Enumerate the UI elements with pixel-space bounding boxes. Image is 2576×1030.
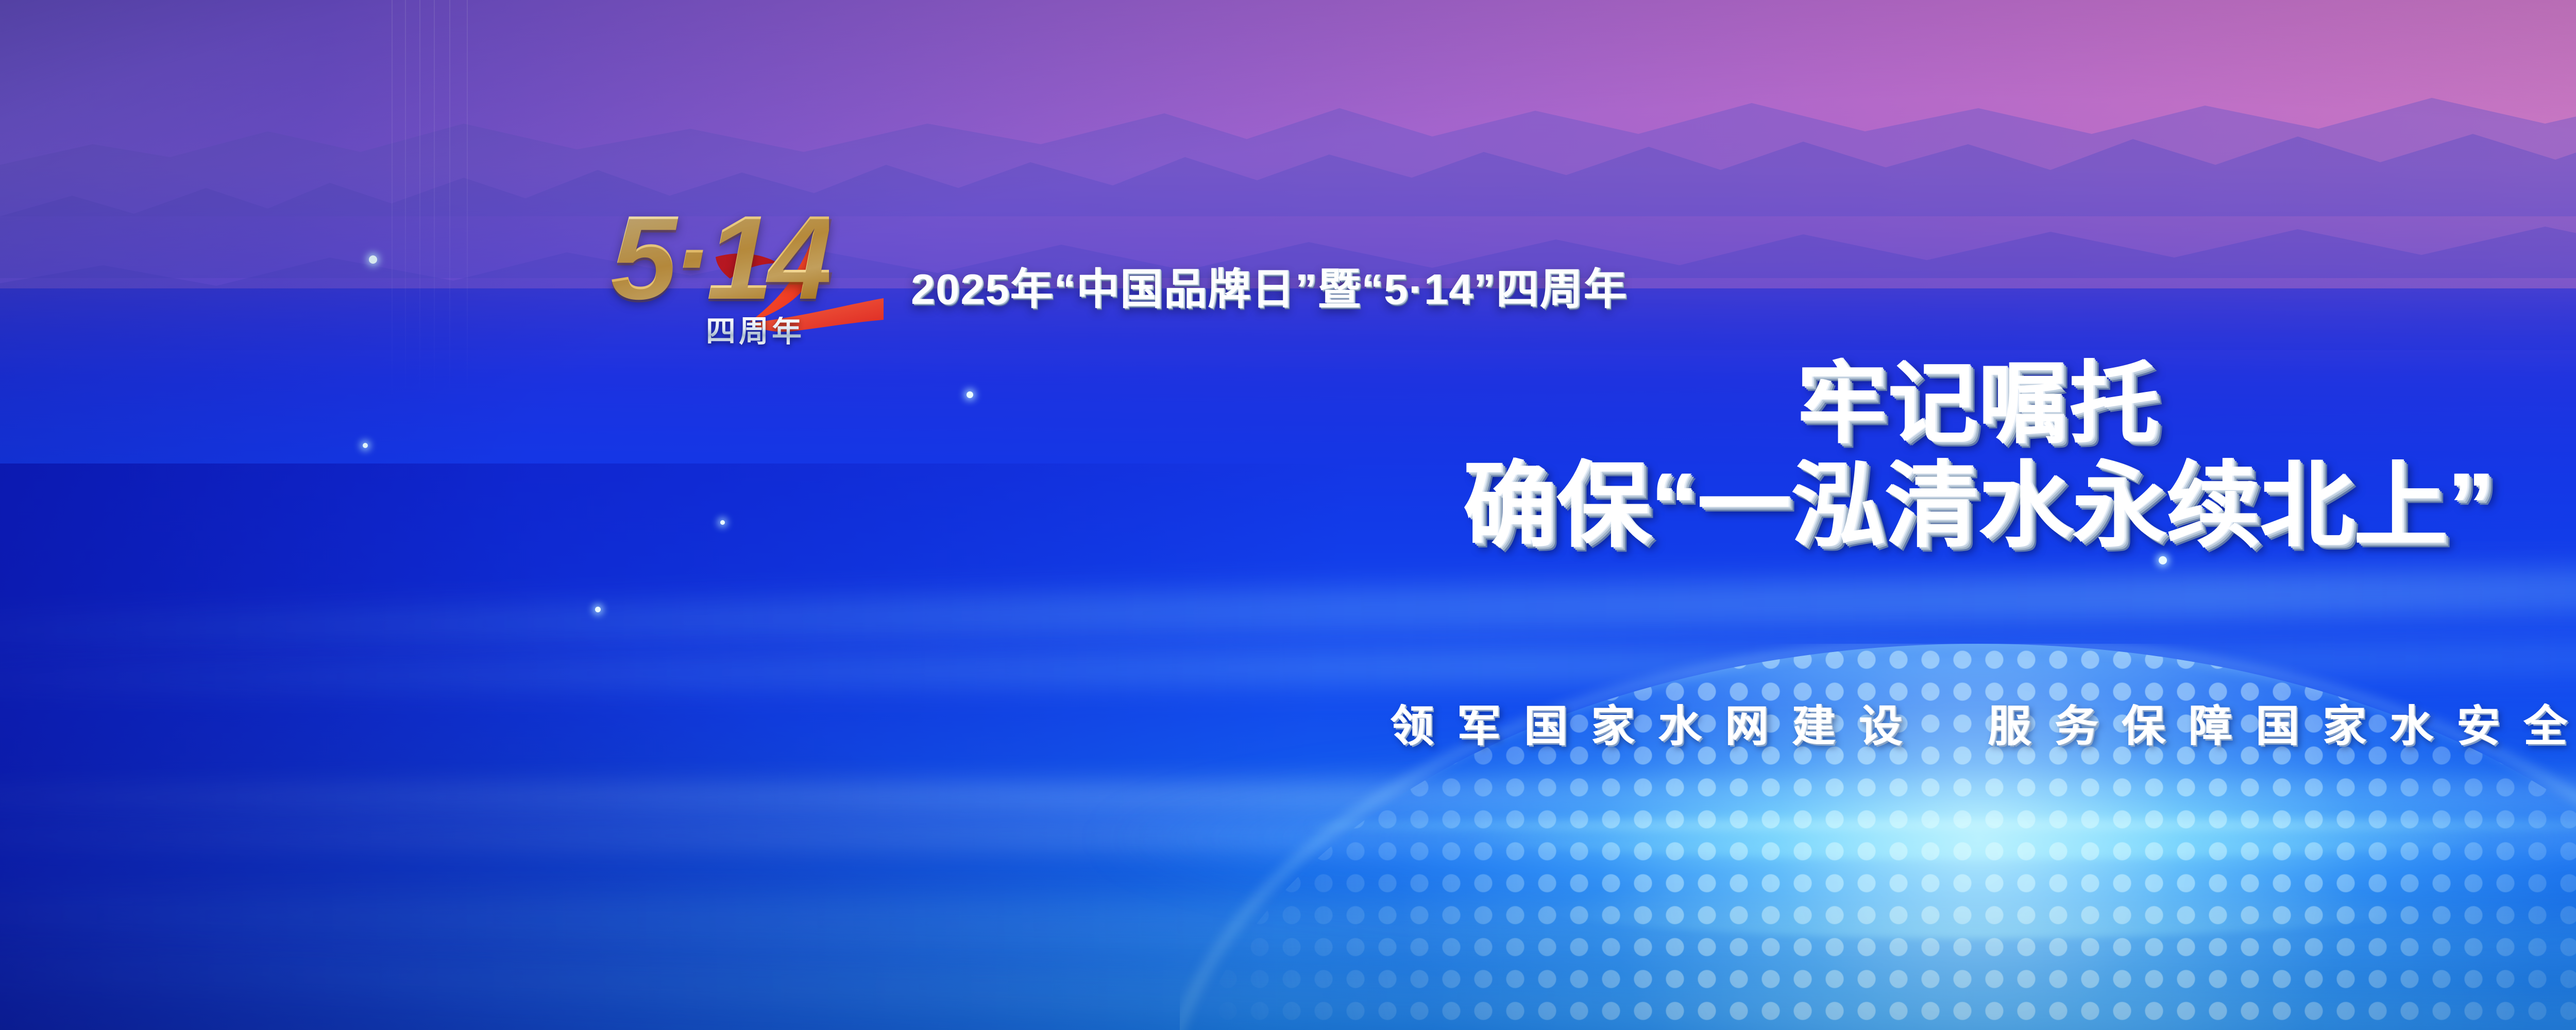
sparkle-particle (595, 607, 601, 612)
anniversary-logo: 5·14 四周年 (611, 198, 878, 348)
headline-block: 牢记嘱托 确保“一泓清水永续北上” (0, 355, 2576, 559)
sparkle-particle (369, 255, 377, 264)
brand-day-line: 2025年“中国品牌日”暨“5·14”四周年 (911, 263, 1628, 316)
anniversary-label: 四周年 (706, 317, 805, 347)
headline-line-2: 确保“一泓清水永续北上” (0, 452, 2576, 559)
anniversary-number: 5·14 (611, 198, 829, 318)
banner-stage: 5·14 四周年 2025年“中国品牌日”暨“5·14”四周年 中国南水北调 C… (0, 0, 2576, 1030)
headline-line-1: 牢记嘱托 (0, 355, 2576, 452)
subtitle-right: 服务保障国家水安全 (1988, 702, 2576, 750)
subtitle-block: 领军国家水网建设服务保障国家水安全 (0, 701, 2576, 751)
subtitle-left: 领军国家水网建设 (1390, 702, 1926, 750)
